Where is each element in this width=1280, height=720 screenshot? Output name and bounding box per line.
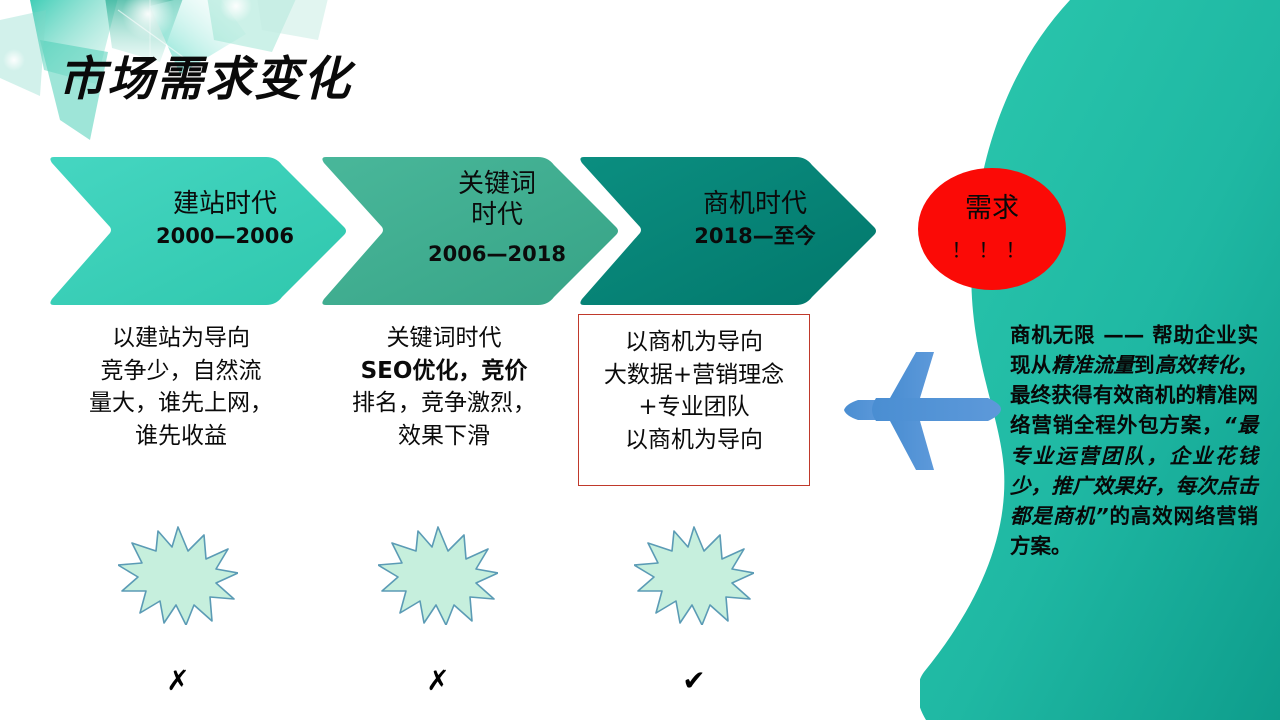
column-3-line-2: 大数据+营销理念 bbox=[580, 359, 808, 392]
column-1-line-1: 以建站为导向 bbox=[62, 322, 300, 355]
verdict-burst-1: ✗ bbox=[118, 525, 238, 625]
timeline-stage-3-range: 2018—至今 bbox=[650, 224, 860, 249]
column-2-line-4: 效果下滑 bbox=[328, 420, 560, 453]
slide-canvas: 市场需求变化 建站时代 2000—2006 bbox=[0, 0, 1280, 720]
column-keyword-era-text: 关键词时代 SEO优化，竞价 排名，竞争激烈， 效果下滑 bbox=[328, 322, 560, 453]
column-1-line-2: 竞争少，自然流 bbox=[62, 355, 300, 388]
summary-seg-4: 到 bbox=[1134, 353, 1155, 377]
check-mark-icon: ✔ bbox=[634, 630, 754, 720]
column-3-line-4: 以商机为导向 bbox=[580, 424, 808, 457]
column-3-line-3: +专业团队 bbox=[580, 391, 808, 424]
cross-mark-icon: ✗ bbox=[378, 630, 498, 720]
starburst-shape-2 bbox=[378, 525, 498, 625]
timeline-stage-1-text: 建站时代 2000—2006 bbox=[120, 189, 330, 248]
cross-mark-icon: ✗ bbox=[118, 630, 238, 720]
timeline-stage-2-range: 2006—2018 bbox=[392, 242, 602, 267]
timeline-stage-2-name-line1: 关键词 bbox=[392, 169, 602, 200]
column-3-line-1: 以商机为导向 bbox=[580, 326, 808, 359]
timeline-stage-2[interactable]: 关键词 时代 2006—2018 bbox=[320, 155, 620, 305]
column-2-line-2: SEO优化，竞价 bbox=[328, 355, 560, 388]
summary-seg-5: 高效转化 bbox=[1155, 353, 1238, 377]
column-website-era-text: 以建站为导向 竞争少，自然流 量大，谁先上网， 谁先收益 bbox=[62, 322, 300, 453]
starburst-shape-3 bbox=[634, 525, 754, 625]
column-1-line-3: 量大，谁先上网， bbox=[62, 387, 300, 420]
timeline-stage-2-text: 关键词 时代 2006—2018 bbox=[392, 169, 602, 267]
need-badge[interactable]: 需求 ！！！ bbox=[918, 168, 1066, 290]
timeline-stage-3-name: 商机时代 bbox=[650, 189, 860, 220]
column-1-line-4: 谁先收益 bbox=[62, 420, 300, 453]
timeline-stage-1-name: 建站时代 bbox=[120, 189, 330, 220]
need-badge-label: 需求 bbox=[965, 195, 1019, 222]
page-title: 市场需求变化 bbox=[58, 40, 352, 109]
summary-paragraph: 商机无限 —— 帮助企业实现从精准流量到高效转化，最终获得有效商机的精准网络营销… bbox=[1010, 320, 1258, 561]
starburst-shape-1 bbox=[118, 525, 238, 625]
verdict-burst-2: ✗ bbox=[378, 525, 498, 625]
verdict-burst-3: ✔ bbox=[634, 525, 754, 625]
column-opportunity-era-text: 以商机为导向 大数据+营销理念 +专业团队 以商机为导向 bbox=[580, 326, 808, 457]
timeline-stage-3-text: 商机时代 2018—至今 bbox=[650, 189, 860, 248]
airplane-icon bbox=[838, 352, 1003, 472]
column-2-line-1: 关键词时代 bbox=[328, 322, 560, 355]
summary-seg-3: 精准流量 bbox=[1051, 353, 1134, 377]
summary-seg-1: 商机无限 —— bbox=[1010, 323, 1152, 347]
timeline-stage-2-name-line2: 时代 bbox=[392, 200, 602, 231]
timeline-stage-1[interactable]: 建站时代 2000—2006 bbox=[48, 155, 348, 305]
timeline-stage-3[interactable]: 商机时代 2018—至今 bbox=[578, 155, 878, 305]
need-badge-marks: ！！！ bbox=[952, 234, 1033, 263]
column-2-line-3: 排名，竞争激烈， bbox=[328, 387, 560, 420]
timeline-stage-1-range: 2000—2006 bbox=[120, 224, 330, 249]
